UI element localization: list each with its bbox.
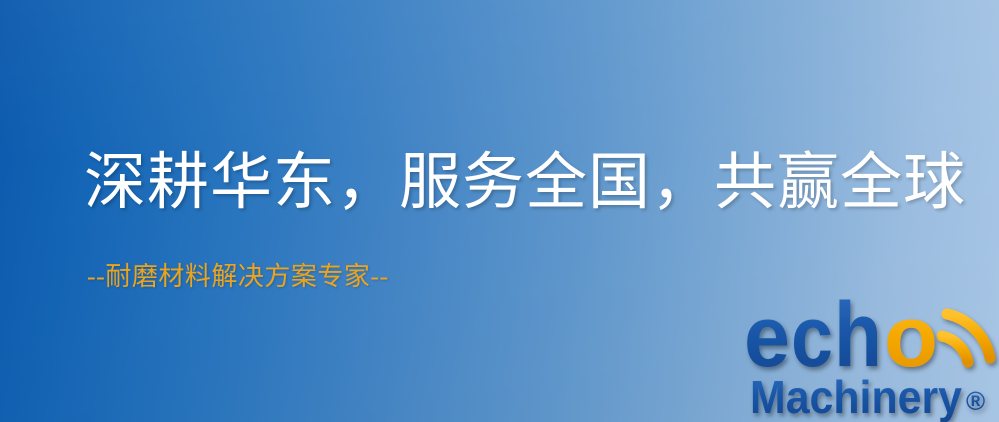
promo-banner: 深耕华东，服务全国，共赢全球 --耐磨材料解决方案专家-- — [0, 0, 999, 422]
signal-wave-icon — [942, 314, 990, 362]
banner-headline: 深耕华东，服务全国，共赢全球 — [84, 152, 966, 214]
logo-machinery-text: Machinery — [750, 371, 962, 422]
logo-trademark-symbol: ® — [966, 386, 985, 416]
echo-machinery-logo[interactable]: e c h o Machinery ® — [744, 292, 999, 422]
banner-subtitle: --耐磨材料解决方案专家-- — [87, 264, 389, 290]
